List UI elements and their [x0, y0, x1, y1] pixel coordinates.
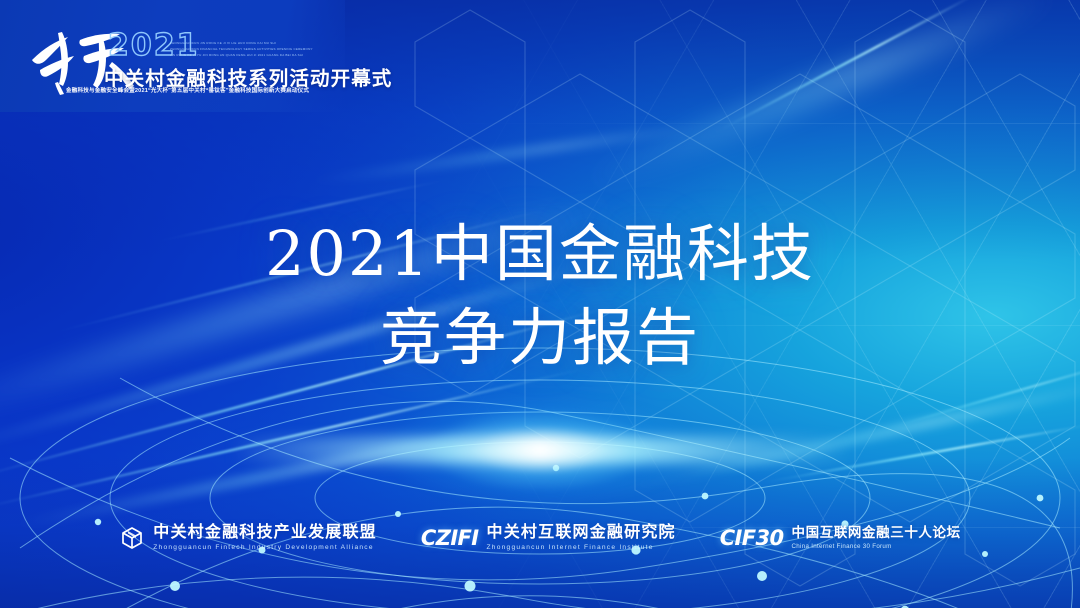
logo-name-en: Zhongguancun Internet Finance Institute: [487, 543, 676, 553]
banner-pinyin-line-3: JIN RONG KE JI YU JIN RONG AN QUAN FENG …: [170, 52, 320, 58]
czifi-wordmark: CZIFI: [421, 526, 479, 550]
logo-name-en: Zhongguancun Fintech Industry Developmen…: [153, 543, 377, 553]
main-title-line-2: 竞争力报告: [0, 296, 1080, 380]
logo-cif30-forum: CIF30 中国互联网金融三十人论坛 China Internet Financ…: [720, 525, 961, 552]
logo-name-cn: 中国互联网金融三十人论坛: [792, 525, 961, 541]
cif30-wordmark: CIF30: [720, 526, 784, 550]
main-title-line-1: 2021中国金融科技: [0, 212, 1080, 296]
presentation-slide: 2021 ZHONGGUANCUN JIN RONG KE JI XI LIE …: [0, 0, 1080, 608]
main-title-block: 2021中国金融科技 竞争力报告: [0, 212, 1080, 380]
partner-logo-row: 中关村金融科技产业发展联盟 Zhongguancun Fintech Indus…: [0, 516, 1080, 560]
logo-zgc-fintech-alliance: 中关村金融科技产业发展联盟 Zhongguancun Fintech Indus…: [119, 523, 377, 553]
banner-pinyin-lines: ZHONGGUANCUN JIN RONG KE JI XI LIE HUO D…: [170, 40, 320, 59]
logo-name-en: China Internet Finance 30 Forum: [792, 542, 961, 552]
cube-logo-icon: [119, 525, 145, 551]
logo-name-cn: 中关村金融科技产业发展联盟: [153, 523, 377, 542]
event-header-banner: 2021 ZHONGGUANCUN JIN RONG KE JI XI LIE …: [0, 0, 345, 112]
logo-zgc-internet-finance-institute: CZIFI 中关村互联网金融研究院 Zhongguancun Internet …: [421, 523, 676, 553]
logo-name-cn: 中关村互联网金融研究院: [487, 523, 676, 542]
banner-event-subtitle: 金融科技与金融安全峰会暨2021“光大杯”第五届中关村“番钛客”金融科技国际创新…: [66, 86, 309, 94]
